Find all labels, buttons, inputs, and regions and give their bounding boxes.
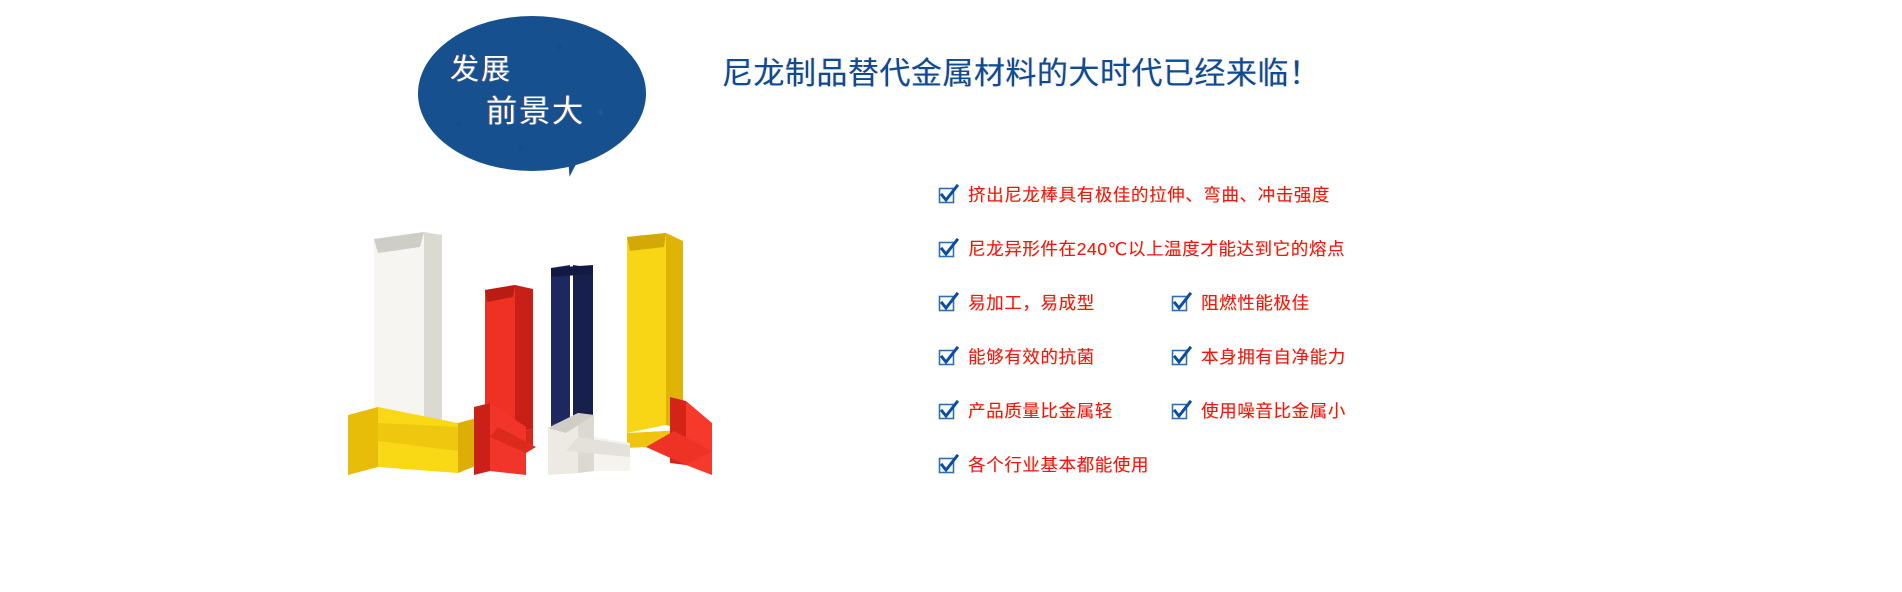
feature-item: 阻燃性能极佳: [1171, 290, 1310, 315]
feature-item: 本身拥有自净能力: [1171, 344, 1346, 369]
feature-item: 使用噪音比金属小: [1171, 398, 1346, 423]
checkbox-checked-icon: [1171, 401, 1190, 420]
feature-label: 本身拥有自净能力: [1201, 344, 1346, 369]
feature-row: 各个行业基本都能使用: [938, 452, 1558, 506]
badge-line-2: 前景大: [486, 96, 585, 127]
feature-item: 各个行业基本都能使用: [938, 452, 1149, 477]
product-photo: [330, 175, 750, 475]
page-title: 尼龙制品替代金属材料的大时代已经来临！: [722, 56, 1321, 92]
feature-item: 尼龙异形件在240℃以上温度才能达到它的熔点: [938, 236, 1345, 261]
badge-line-1: 发展: [450, 56, 512, 85]
checkbox-checked-icon: [1171, 347, 1190, 366]
feature-label: 易加工，易成型: [968, 290, 1095, 315]
feature-label: 尼龙异形件在240℃以上温度才能达到它的熔点: [968, 236, 1345, 261]
badge-text-group: 发展 前景大: [418, 16, 646, 171]
feature-item: 挤出尼龙棒具有极佳的拉伸、弯曲、冲击强度: [938, 182, 1330, 207]
feature-item: 能够有效的抗菌: [938, 344, 1095, 369]
profile-white-flat: [548, 413, 630, 475]
feature-item: 产品质量比金属轻: [938, 398, 1113, 423]
checkbox-checked-icon: [938, 401, 957, 420]
checkbox-checked-icon: [938, 185, 957, 204]
feature-row: 能够有效的抗菌 本身拥有自净能力: [938, 344, 1558, 398]
feature-row: 易加工，易成型 阻燃性能极佳: [938, 290, 1558, 344]
profile-yellow-flat: [348, 407, 488, 475]
checkbox-checked-icon: [938, 239, 957, 258]
checkbox-checked-icon: [938, 293, 957, 312]
feature-row: 产品质量比金属轻 使用噪音比金属小: [938, 398, 1558, 452]
feature-label: 能够有效的抗菌: [968, 344, 1095, 369]
feature-row: 尼龙异形件在240℃以上温度才能达到它的熔点: [938, 236, 1558, 290]
feature-label: 产品质量比金属轻: [968, 398, 1113, 423]
feature-label: 使用噪音比金属小: [1201, 398, 1346, 423]
checkbox-checked-icon: [938, 455, 957, 474]
checkbox-checked-icon: [1171, 293, 1190, 312]
product-illustration: [330, 175, 750, 475]
feature-list: 挤出尼龙棒具有极佳的拉伸、弯曲、冲击强度 尼龙异形件在240℃以上温度才能达到它…: [938, 182, 1558, 506]
feature-item: 易加工，易成型: [938, 290, 1095, 315]
checkbox-checked-icon: [938, 347, 957, 366]
banner-canvas: 发展 前景大 尼龙制品替代金属材料的大时代已经来临！: [0, 0, 1902, 592]
feature-label: 挤出尼龙棒具有极佳的拉伸、弯曲、冲击强度: [968, 182, 1330, 207]
promo-badge: 发展 前景大: [418, 16, 658, 191]
feature-label: 阻燃性能极佳: [1201, 290, 1310, 315]
feature-label: 各个行业基本都能使用: [968, 452, 1149, 477]
feature-row: 挤出尼龙棒具有极佳的拉伸、弯曲、冲击强度: [938, 182, 1558, 236]
